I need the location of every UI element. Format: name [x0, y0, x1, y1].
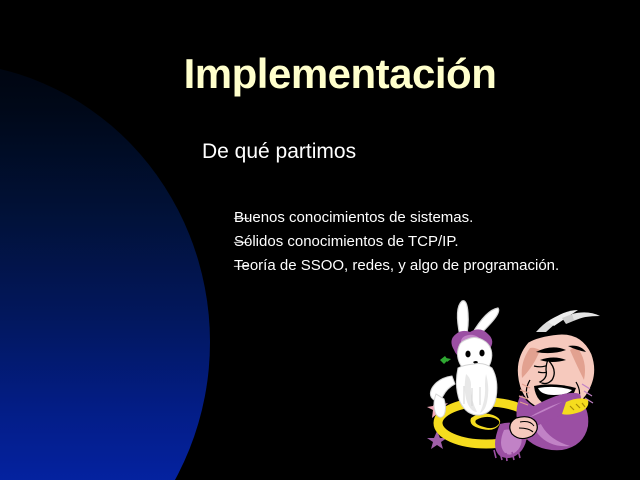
list-item-label: Teoría de SSOO, redes, y algo de program…	[234, 257, 559, 274]
list-item-label: Buenos conocimientos de sistemas.	[234, 209, 473, 226]
slide-subtitle: De qué partimos	[202, 140, 356, 163]
background-ellipse-decoration	[0, 62, 210, 480]
green-star-icon	[440, 356, 451, 364]
bullet-list: — Buenos conocimientos de sistemas. — Só…	[234, 206, 624, 278]
list-item: — Sólidos conocimientos de TCP/IP.	[234, 230, 624, 254]
list-item-label: Sólidos conocimientos de TCP/IP.	[234, 233, 459, 250]
presentation-slide: Implementación De qué partimos — Buenos …	[0, 0, 640, 480]
hair-strands	[536, 310, 600, 332]
list-item: — Teoría de SSOO, redes, y algo de progr…	[234, 254, 624, 278]
slide-title: Implementación	[0, 52, 640, 96]
list-item: — Buenos conocimientos de sistemas.	[234, 206, 624, 230]
rabbit-figure	[430, 301, 498, 418]
magician-with-rabbit-clipart	[416, 298, 616, 463]
clipart-artwork	[416, 298, 616, 463]
